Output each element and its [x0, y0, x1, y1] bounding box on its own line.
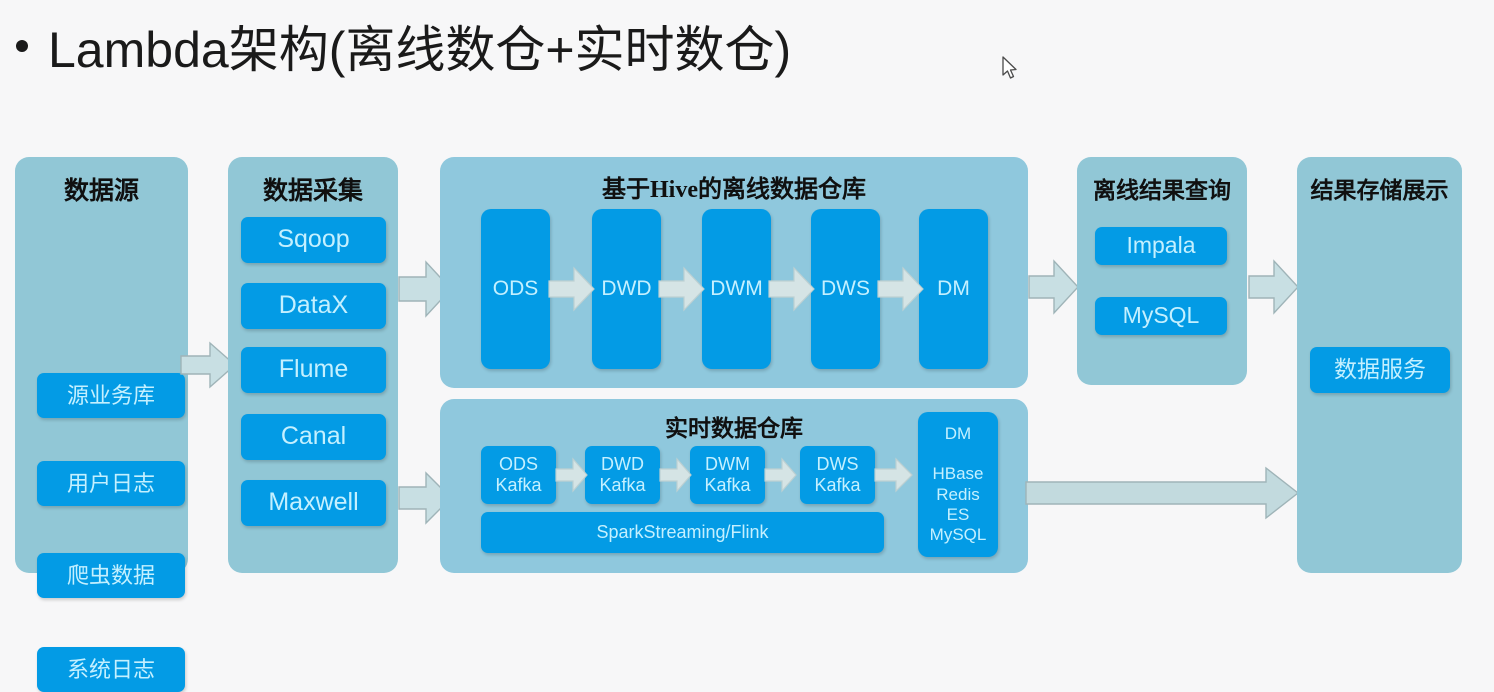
data-source-item-1[interactable]: 用户日志	[37, 461, 185, 506]
offline-stage-2[interactable]: DWM	[702, 209, 771, 369]
data-source-item-0[interactable]: 源业务库	[37, 373, 185, 418]
arrow-stage-flow-offline-1	[658, 265, 706, 313]
arrow-stage-flow-offline-2	[768, 265, 816, 313]
offline-stage-1[interactable]: DWD	[592, 209, 661, 369]
data-source-item-2[interactable]: 爬虫数据	[37, 553, 185, 598]
bullet-icon	[16, 40, 28, 52]
arrow-stage-flow-realtime-2	[764, 457, 798, 493]
data-source-item-3[interactable]: 系统日志	[37, 647, 185, 692]
data-collection-item-1[interactable]: DataX	[241, 283, 386, 329]
data-collection-item-2[interactable]: Flume	[241, 347, 386, 393]
panel-offline-warehouse: 基于Hive的离线数据仓库 ODS DWD DWM DWS DM	[440, 157, 1028, 388]
data-collection-item-0[interactable]: Sqoop	[241, 217, 386, 263]
arrow-stage-flow-realtime-0	[555, 457, 589, 493]
realtime-stage-2[interactable]: DWM Kafka	[690, 446, 765, 504]
panel-data-source: 数据源 源业务库 用户日志 爬虫数据 系统日志	[15, 157, 188, 573]
page-title: Lambda架构(离线数仓+实时数仓)	[0, 6, 1000, 86]
data-collection-item-3[interactable]: Canal	[241, 414, 386, 460]
realtime-stage-1[interactable]: DWD Kafka	[585, 446, 660, 504]
panel-data-collection: 数据采集 Sqoop DataX Flume Canal Maxwell	[228, 157, 398, 573]
offline-query-item-1[interactable]: MySQL	[1095, 297, 1227, 335]
panel-result-display-title: 结果存储展示	[1297, 171, 1462, 205]
data-collection-item-4[interactable]: Maxwell	[241, 480, 386, 526]
arrow-stage-flow-realtime-3	[874, 457, 914, 493]
panel-data-collection-title: 数据采集	[228, 171, 398, 207]
arrow-offline-to-query	[1028, 258, 1080, 316]
realtime-sink-dm[interactable]: DM HBase Redis ES MySQL	[918, 412, 998, 557]
panel-offline-query-title: 离线结果查询	[1077, 171, 1247, 205]
arrow-realtime-to-display	[1025, 466, 1300, 520]
arrow-stage-flow-realtime-1	[659, 457, 693, 493]
realtime-stage-0[interactable]: ODS Kafka	[481, 446, 556, 504]
realtime-engine[interactable]: SparkStreaming/Flink	[481, 512, 884, 553]
panel-offline-query: 离线结果查询 Impala MySQL	[1077, 157, 1247, 385]
arrow-stage-flow-offline-3	[877, 265, 925, 313]
panel-data-source-title: 数据源	[15, 171, 188, 207]
page-title-text: Lambda架构(离线数仓+实时数仓)	[48, 10, 791, 82]
arrow-stage-flow-offline-0	[548, 265, 596, 313]
mouse-cursor-icon	[1002, 56, 1020, 82]
offline-stage-3[interactable]: DWS	[811, 209, 880, 369]
realtime-stage-3[interactable]: DWS Kafka	[800, 446, 875, 504]
offline-query-item-0[interactable]: Impala	[1095, 227, 1227, 265]
panel-result-display: 结果存储展示 数据服务	[1297, 157, 1462, 573]
result-display-item-0[interactable]: 数据服务	[1310, 347, 1450, 393]
arrow-query-to-display	[1248, 258, 1300, 316]
panel-realtime-warehouse: 实时数据仓库 ODS Kafka DWD Kafka DWM Kafka DWS…	[440, 399, 1028, 573]
offline-stage-4[interactable]: DM	[919, 209, 988, 369]
offline-stage-0[interactable]: ODS	[481, 209, 550, 369]
panel-offline-warehouse-title: 基于Hive的离线数据仓库	[440, 169, 1028, 204]
